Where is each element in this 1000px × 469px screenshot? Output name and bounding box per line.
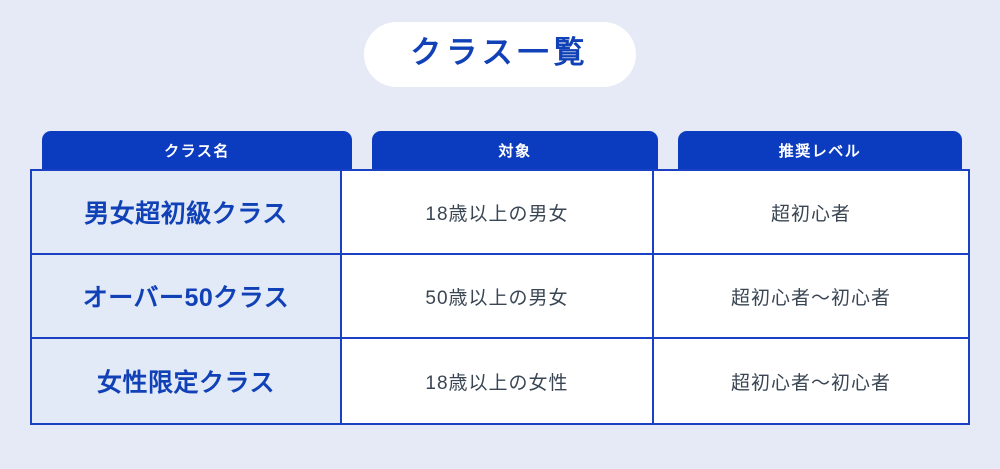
table-body: 男女超初級クラス 18歳以上の男女 超初心者 オーバー50クラス 50歳以上の男… bbox=[30, 169, 970, 425]
cell-class-name: 女性限定クラス bbox=[32, 339, 342, 423]
column-header-class-name: クラス名 bbox=[42, 131, 352, 169]
cell-target: 18歳以上の男女 bbox=[342, 171, 654, 253]
title-banner: クラス一覧 bbox=[0, 22, 1000, 87]
table-header-row: クラス名 対象 推奨レベル bbox=[30, 131, 970, 169]
column-header-target: 対象 bbox=[372, 131, 658, 169]
class-table: クラス名 対象 推奨レベル 男女超初級クラス 18歳以上の男女 超初心者 オーバ… bbox=[30, 131, 970, 425]
cell-recommended-level: 超初心者 bbox=[654, 171, 968, 253]
cell-target: 18歳以上の女性 bbox=[342, 339, 654, 423]
header-gap-1 bbox=[352, 131, 372, 169]
table-row: 男女超初級クラス 18歳以上の男女 超初心者 bbox=[32, 171, 968, 255]
page-title: クラス一覧 bbox=[364, 22, 635, 87]
cell-class-name: オーバー50クラス bbox=[32, 255, 342, 337]
column-header-recommended-level: 推奨レベル bbox=[678, 131, 962, 169]
class-list-infographic: クラス一覧 クラス名 対象 推奨レベル 男女超初級クラス 18歳以上の男女 超初… bbox=[0, 0, 1000, 469]
table-row: オーバー50クラス 50歳以上の男女 超初心者〜初心者 bbox=[32, 255, 968, 339]
table-row: 女性限定クラス 18歳以上の女性 超初心者〜初心者 bbox=[32, 339, 968, 423]
cell-recommended-level: 超初心者〜初心者 bbox=[654, 255, 968, 337]
cell-target: 50歳以上の男女 bbox=[342, 255, 654, 337]
cell-recommended-level: 超初心者〜初心者 bbox=[654, 339, 968, 423]
header-gap-2 bbox=[658, 131, 678, 169]
cell-class-name: 男女超初級クラス bbox=[32, 171, 342, 253]
